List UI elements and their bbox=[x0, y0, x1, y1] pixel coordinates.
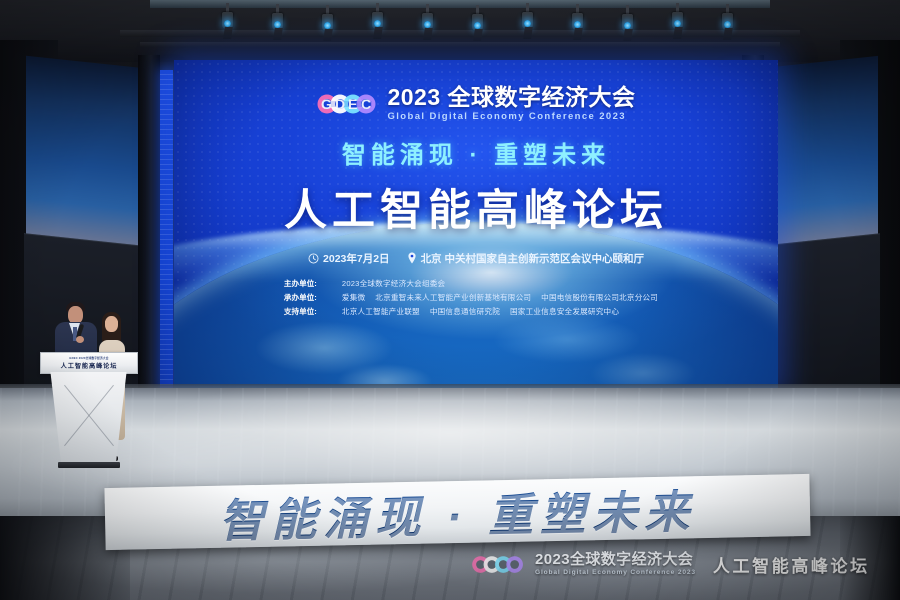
lectern-cross-pattern bbox=[56, 376, 120, 456]
svg-text:G: G bbox=[321, 96, 332, 112]
lectern-base-foot bbox=[58, 462, 120, 468]
organizer-label: 主办单位: bbox=[284, 277, 336, 291]
lectern-top-panel: GDEC 2023全球数字经济大会 人工智能高峰论坛 bbox=[40, 352, 138, 374]
spotlight-icon bbox=[422, 4, 433, 40]
organizer-line: 主办单位:2023全球数字经济大会组委会 bbox=[284, 277, 668, 291]
event-location-item: 北京 中关村国家自主创新示范区会议中心颐和厅 bbox=[407, 251, 644, 266]
conference-name-en: Global Digital Economy Conference 2023 bbox=[387, 112, 635, 122]
organizer-values: 爱集微北京重智未来人工智能产业创新基地有限公司中国电信股份有限公司北京分公司 bbox=[342, 291, 668, 305]
spotlight-icon bbox=[472, 5, 483, 41]
bottom-brand-cn: 2023全球数字经济大会 bbox=[535, 552, 696, 567]
spotlight-icon bbox=[722, 4, 733, 40]
organizer-name: 北京重智未来人工智能产业创新基地有限公司 bbox=[375, 293, 531, 302]
bottom-brand-watermark: 2023全球数字经济大会 Global Digital Economy Conf… bbox=[470, 552, 870, 577]
organizer-name: 爱集微 bbox=[342, 293, 365, 302]
event-location: 北京 中关村国家自主创新示范区会议中心颐和厅 bbox=[421, 251, 644, 266]
event-date: 2023年7月2日 bbox=[323, 251, 390, 266]
spotlight-icon bbox=[522, 3, 533, 39]
svg-text:D: D bbox=[335, 96, 345, 112]
organizer-values: 北京人工智能产业联盟中国信息通信研究院国家工业信息安全发展研究中心 bbox=[342, 305, 629, 319]
banner-slogan: 智能涌现 · 重塑未来 bbox=[218, 475, 696, 550]
lectern-sign: GDEC 2023全球数字经济大会 人工智能高峰论坛 bbox=[41, 353, 137, 373]
event-date-item: 2023年7月2日 bbox=[308, 251, 390, 266]
organizer-name: 国家工业信息安全发展研究中心 bbox=[510, 307, 619, 316]
organizer-line: 承办单位:爱集微北京重智未来人工智能产业创新基地有限公司中国电信股份有限公司北京… bbox=[284, 291, 668, 305]
organizer-name: 中国电信股份有限公司北京分公司 bbox=[541, 293, 658, 302]
svg-text:E: E bbox=[348, 96, 357, 112]
event-meta-row: 2023年7月2日 北京 中关村国家自主创新示范区会议中心颐和厅 bbox=[174, 251, 778, 266]
bottom-brand-forum: 人工智能高峰论坛 bbox=[713, 552, 870, 577]
podium-and-speakers: GDEC 2023全球数字经济大会 人工智能高峰论坛 bbox=[40, 300, 170, 470]
screen-content: G D E C 2023 全球数字经济大会 Global Digital Eco… bbox=[174, 60, 778, 319]
ceiling-truss-beam-secondary bbox=[140, 42, 780, 47]
screen-subtitle: 智能涌现 · 重塑未来 bbox=[174, 135, 778, 170]
organizer-label: 支持单位: bbox=[284, 305, 336, 319]
conference-name-cn: 2023 全球数字经济大会 bbox=[387, 86, 635, 109]
spotlight-icon bbox=[672, 3, 683, 39]
lectern-forum-title: 人工智能高峰论坛 bbox=[61, 361, 118, 370]
spotlight-icon bbox=[622, 5, 633, 41]
clock-icon bbox=[308, 253, 319, 264]
conference-logo-row: G D E C 2023 全球数字经济大会 Global Digital Eco… bbox=[174, 86, 778, 122]
gdec-bubble-logo-icon: G D E C bbox=[316, 92, 378, 116]
organizer-label: 承办单位: bbox=[284, 291, 336, 305]
gdec-bubble-logo-icon-bottom bbox=[470, 554, 526, 575]
organizer-name: 中国信息通信研究院 bbox=[430, 307, 500, 316]
location-pin-icon bbox=[407, 252, 417, 264]
spotlight-icon bbox=[222, 3, 233, 39]
bottom-brand-text: 2023全球数字经济大会 Global Digital Economy Conf… bbox=[535, 552, 696, 577]
bottom-brand-en: Global Digital Economy Conference 2023 bbox=[535, 570, 696, 577]
ceiling bbox=[0, 0, 900, 62]
screen-main-title: 人工智能高峰论坛 bbox=[174, 176, 778, 238]
organizers-block: 主办单位:2023全球数字经济大会组委会承办单位:爱集微北京重智未来人工智能产业… bbox=[284, 277, 668, 319]
spotlight-icon bbox=[272, 4, 283, 40]
organizer-name: 2023全球数字经济大会组委会 bbox=[342, 279, 445, 288]
spotlight-icon bbox=[372, 3, 383, 39]
lectern-logo-text: GDEC 2023全球数字经济大会 bbox=[69, 356, 108, 360]
spotlight-icon bbox=[322, 5, 333, 41]
man-hand bbox=[76, 336, 84, 343]
conference-logo-text: 2023 全球数字经济大会 Global Digital Economy Con… bbox=[387, 86, 635, 122]
woman-head bbox=[105, 316, 118, 332]
stage-photo-scene: G D E C 2023 全球数字经济大会 Global Digital Eco… bbox=[0, 0, 900, 600]
main-led-screen: G D E C 2023 全球数字经济大会 Global Digital Eco… bbox=[174, 60, 778, 390]
organizer-line: 支持单位:北京人工智能产业联盟中国信息通信研究院国家工业信息安全发展研究中心 bbox=[284, 305, 668, 319]
organizer-values: 2023全球数字经济大会组委会 bbox=[342, 277, 455, 291]
lectern: GDEC 2023全球数字经济大会 人工智能高峰论坛 bbox=[40, 352, 136, 470]
svg-text:C: C bbox=[361, 96, 371, 112]
organizer-name: 北京人工智能产业联盟 bbox=[342, 307, 420, 316]
spotlight-icon bbox=[572, 4, 583, 40]
